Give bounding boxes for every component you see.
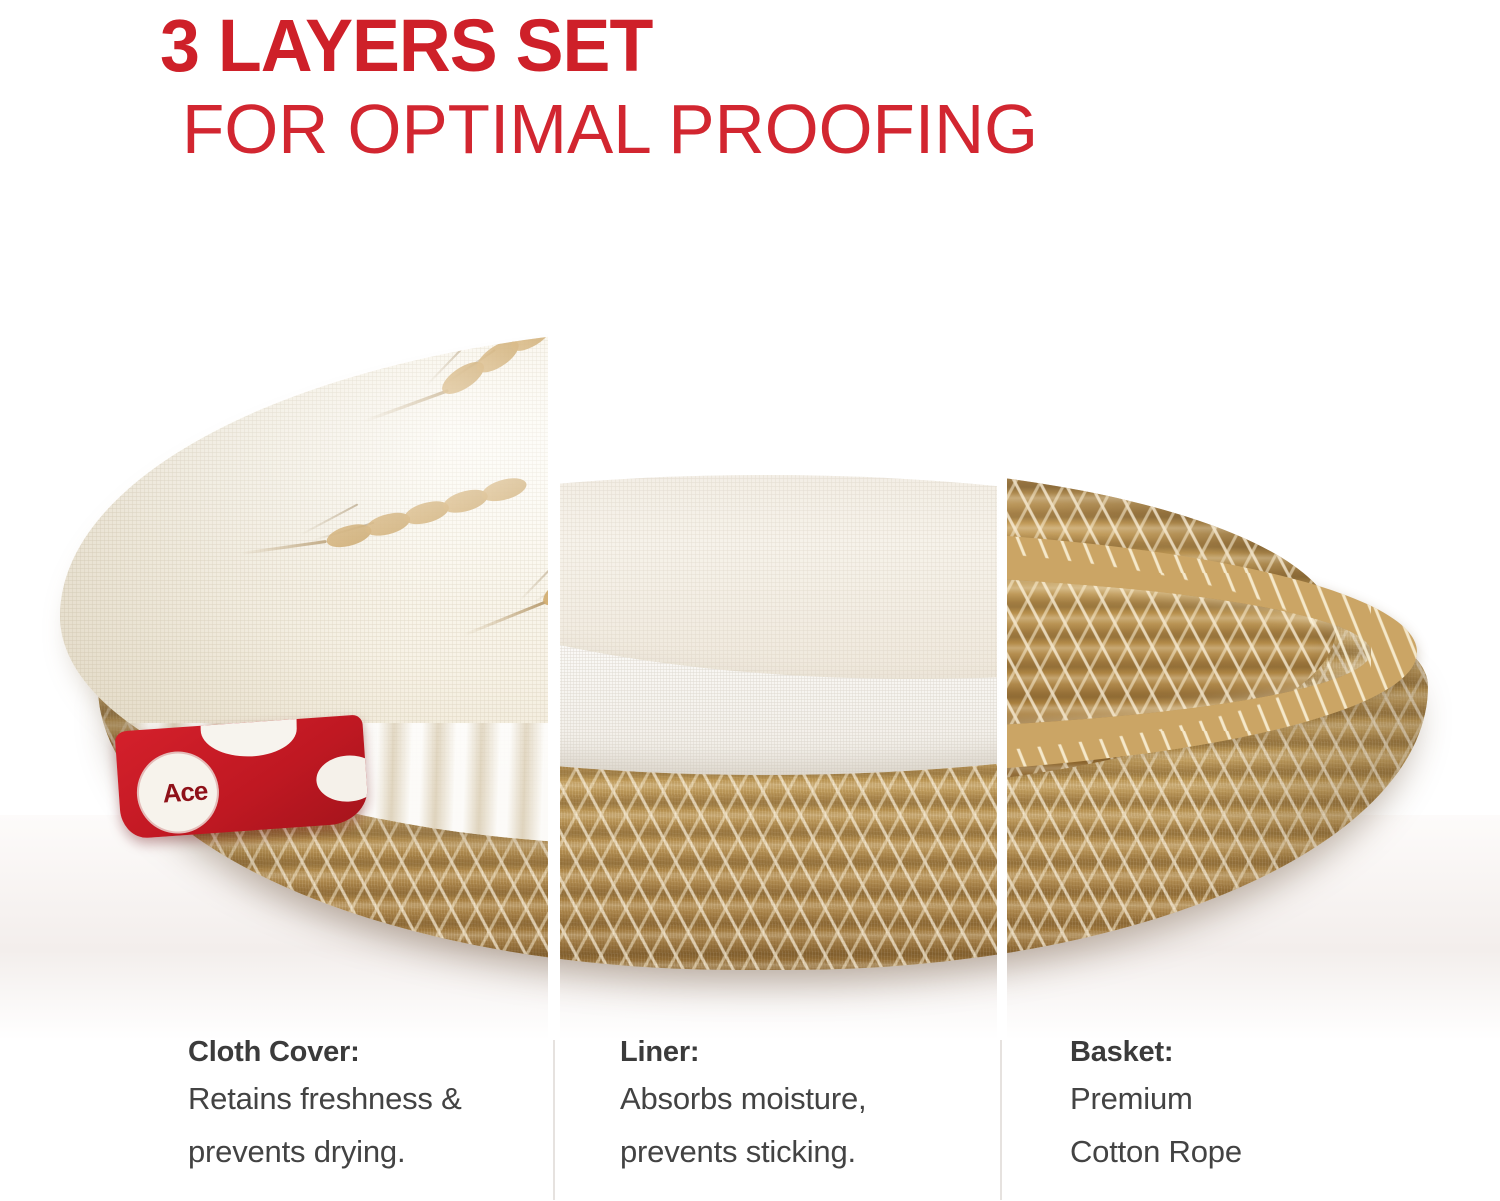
caption-body-line: prevents sticking. <box>620 1125 970 1178</box>
panel-divider-2 <box>997 295 1007 1040</box>
tab-notch-secondary <box>315 753 370 803</box>
caption-title: Liner: <box>620 1032 970 1072</box>
product-photo-stage: Ace <box>0 295 1500 1040</box>
caption-title: Cloth Cover: <box>188 1032 548 1072</box>
caption-cloth-cover: Cloth Cover: Retains freshness & prevent… <box>188 1032 548 1178</box>
caption-divider-1 <box>553 1040 555 1200</box>
linen-liner <box>560 475 997 775</box>
caption-body-line: Premium <box>1070 1072 1450 1125</box>
caption-body: Premium Cotton Rope <box>1070 1072 1450 1178</box>
caption-body: Absorbs moisture, prevents sticking. <box>620 1072 970 1178</box>
liner-interior <box>560 475 997 679</box>
caption-body-line: Absorbs moisture, <box>620 1072 970 1125</box>
brand-logo-text: Ace <box>162 775 209 809</box>
caption-divider-2 <box>1000 1040 1002 1200</box>
caption-body-line: prevents drying. <box>188 1125 548 1178</box>
panel-divider-1 <box>548 295 560 1040</box>
caption-title: Basket: <box>1070 1032 1450 1072</box>
caption-body: Retains freshness & prevents drying. <box>188 1072 548 1178</box>
photo-scene-liner <box>560 295 997 1040</box>
infographic-page: 3 LAYERS SET FOR OPTIMAL PROOFING <box>0 0 1500 1201</box>
photo-scene-cover: Ace <box>0 295 548 1040</box>
headline-line-1: 3 LAYERS SET <box>160 6 1324 86</box>
caption-body-line: Cotton Rope <box>1070 1125 1450 1178</box>
photo-panel-liner <box>560 295 997 1040</box>
brand-tab: Ace <box>115 714 370 839</box>
photo-panel-basket <box>1007 295 1500 1040</box>
headline-block: 3 LAYERS SET FOR OPTIMAL PROOFING <box>160 6 1360 172</box>
photo-scene-basket <box>1007 295 1500 1040</box>
headline-line-2: FOR OPTIMAL PROOFING <box>182 86 1348 172</box>
caption-basket: Basket: Premium Cotton Rope <box>1070 1032 1450 1178</box>
caption-liner: Liner: Absorbs moisture, prevents sticki… <box>620 1032 970 1178</box>
liner-interior-weave <box>560 475 997 679</box>
photo-panel-cloth-cover: Ace <box>0 295 548 1040</box>
caption-body-line: Retains freshness & <box>188 1072 548 1125</box>
brand-logo-badge: Ace <box>134 749 222 837</box>
